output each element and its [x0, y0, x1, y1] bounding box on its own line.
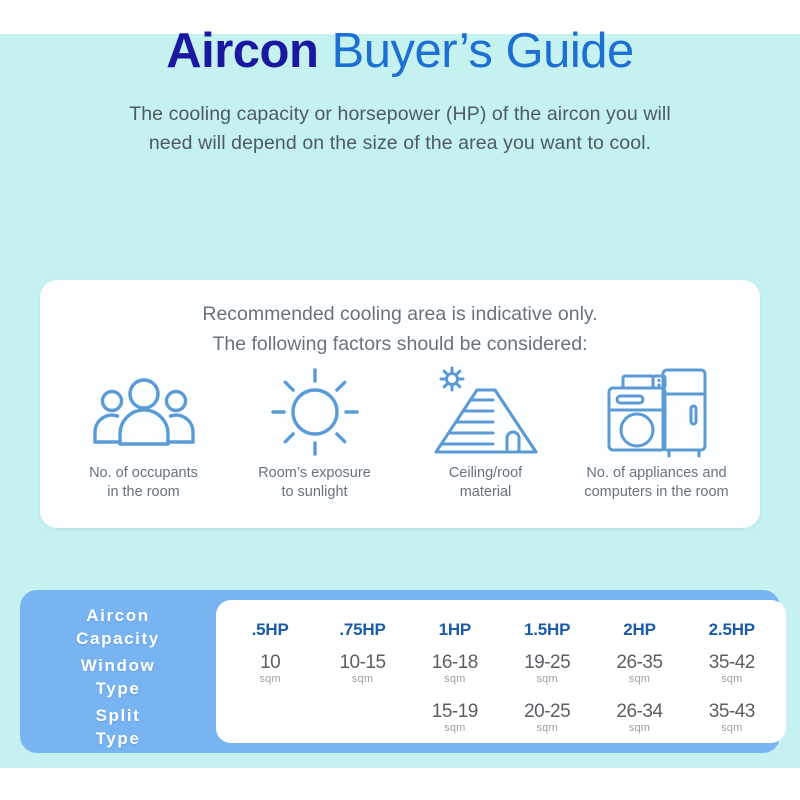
cell-unit: sqm	[593, 722, 685, 734]
caption-line-1: No. of appliances and	[571, 464, 742, 483]
row-label-aircon-capacity: Aircon Capacity	[20, 604, 216, 650]
factor-sunlight: Room’s exposure to sunlight	[229, 368, 400, 502]
sun-icon	[229, 368, 400, 456]
split-type-cell: 26-34 sqm	[593, 702, 685, 748]
split-type-cell: 15-19 sqm	[409, 702, 501, 748]
caption-line-2: in the room	[58, 483, 229, 502]
row-label-line-2: Type	[20, 677, 216, 700]
split-type-cell	[316, 702, 408, 748]
capacity-column-5: 2.5HP 35-42 sqm 35-43 sqm	[686, 600, 778, 743]
row-label-line-1: Aircon	[20, 604, 216, 627]
capacity-table-panel: Aircon Capacity Window Type Split Type .…	[20, 590, 780, 753]
window-type-cell: 10 sqm	[224, 653, 316, 699]
cell-unit: sqm	[224, 673, 316, 685]
capacity-column-4: 2HP 26-35 sqm 26-34 sqm	[593, 600, 685, 743]
cell-value: 10	[224, 653, 316, 673]
cell-value: 16-18	[409, 653, 501, 673]
cell-value: 20-25	[501, 702, 593, 722]
column-header: .75HP	[316, 620, 408, 640]
window-type-cell: 16-18 sqm	[409, 653, 501, 699]
people-group-icon	[58, 368, 229, 456]
cell-value: 26-35	[593, 653, 685, 673]
cell-value: 26-34	[593, 702, 685, 722]
roof-sun-icon	[400, 368, 571, 456]
page-title: Aircon Buyer’s Guide	[0, 22, 800, 80]
cell-unit: sqm	[501, 722, 593, 734]
cell-value: 10-15	[316, 653, 408, 673]
factors-card: Recommended cooling area is indicative o…	[40, 280, 760, 528]
cell-unit: sqm	[501, 673, 593, 685]
factors-list: No. of occupants in the room Room’s expo…	[58, 368, 742, 502]
row-label-line-1: Split	[20, 704, 216, 727]
title-rest-words: Buyer’s Guide	[332, 24, 634, 78]
subtitle-line-1: The cooling capacity or horsepower (HP) …	[0, 100, 800, 129]
caption-line-1: Room’s exposure	[229, 464, 400, 483]
page-header: Aircon Buyer’s Guide The cooling capacit…	[0, 22, 800, 158]
split-type-cell: 35-43 sqm	[686, 702, 778, 748]
window-type-cell: 26-35 sqm	[593, 653, 685, 699]
appliances-icon	[571, 368, 742, 456]
cell-value: 35-42	[686, 653, 778, 673]
window-type-cell: 19-25 sqm	[501, 653, 593, 699]
caption-line-2: to sunlight	[229, 483, 400, 502]
page-subtitle: The cooling capacity or horsepower (HP) …	[0, 100, 800, 158]
column-header: 1HP	[409, 620, 501, 640]
split-type-cell	[224, 702, 316, 748]
capacity-column-1: .75HP 10-15 sqm	[316, 600, 408, 743]
row-label-line-1: Window	[20, 654, 216, 677]
capacity-table-columns: .5HP 10 sqm .75HP 10-15 sqm	[224, 600, 778, 743]
cell-value: 19-25	[501, 653, 593, 673]
column-header: 2.5HP	[686, 620, 778, 640]
column-header: .5HP	[224, 620, 316, 640]
split-type-cell: 20-25 sqm	[501, 702, 593, 748]
caption-line-1: Ceiling/roof	[400, 464, 571, 483]
cell-unit: sqm	[316, 673, 408, 685]
capacity-table-row-labels: Aircon Capacity Window Type Split Type	[20, 590, 216, 753]
column-header: 2HP	[593, 620, 685, 640]
subtitle-line-2: need will depend on the size of the area…	[0, 129, 800, 158]
cell-value: 35-43	[686, 702, 778, 722]
row-label-split-type: Split Type	[20, 704, 216, 750]
infographic-page: Aircon Buyer’s Guide The cooling capacit…	[0, 0, 800, 800]
row-label-line-2: Capacity	[20, 627, 216, 650]
row-label-window-type: Window Type	[20, 654, 216, 700]
title-brand-word: Aircon	[166, 24, 318, 78]
factor-appliances-caption: No. of appliances and computers in the r…	[571, 464, 742, 502]
factors-heading-line-2: The following factors should be consider…	[40, 329, 760, 359]
cell-unit: sqm	[409, 722, 501, 734]
cell-unit: sqm	[686, 673, 778, 685]
capacity-column-0: .5HP 10 sqm	[224, 600, 316, 743]
capacity-column-2: 1HP 16-18 sqm 15-19 sqm	[409, 600, 501, 743]
caption-line-2: material	[400, 483, 571, 502]
factors-heading-line-1: Recommended cooling area is indicative o…	[40, 299, 760, 329]
caption-line-2: computers in the room	[571, 483, 742, 502]
column-header: 1.5HP	[501, 620, 593, 640]
factor-ceiling-roof: Ceiling/roof material	[400, 368, 571, 502]
factor-occupants-caption: No. of occupants in the room	[58, 464, 229, 502]
factor-appliances: No. of appliances and computers in the r…	[571, 368, 742, 502]
window-type-cell: 10-15 sqm	[316, 653, 408, 699]
factor-occupants: No. of occupants in the room	[58, 368, 229, 502]
row-label-line-2: Type	[20, 727, 216, 750]
caption-line-1: No. of occupants	[58, 464, 229, 483]
capacity-column-3: 1.5HP 19-25 sqm 20-25 sqm	[501, 600, 593, 743]
cell-unit: sqm	[593, 673, 685, 685]
cell-unit: sqm	[409, 673, 501, 685]
window-type-cell: 35-42 sqm	[686, 653, 778, 699]
factors-heading: Recommended cooling area is indicative o…	[40, 280, 760, 359]
cell-unit: sqm	[686, 722, 778, 734]
factor-sunlight-caption: Room’s exposure to sunlight	[229, 464, 400, 502]
factor-ceiling-roof-caption: Ceiling/roof material	[400, 464, 571, 502]
cell-value: 15-19	[409, 702, 501, 722]
capacity-table-card: .5HP 10 sqm .75HP 10-15 sqm	[216, 600, 786, 743]
